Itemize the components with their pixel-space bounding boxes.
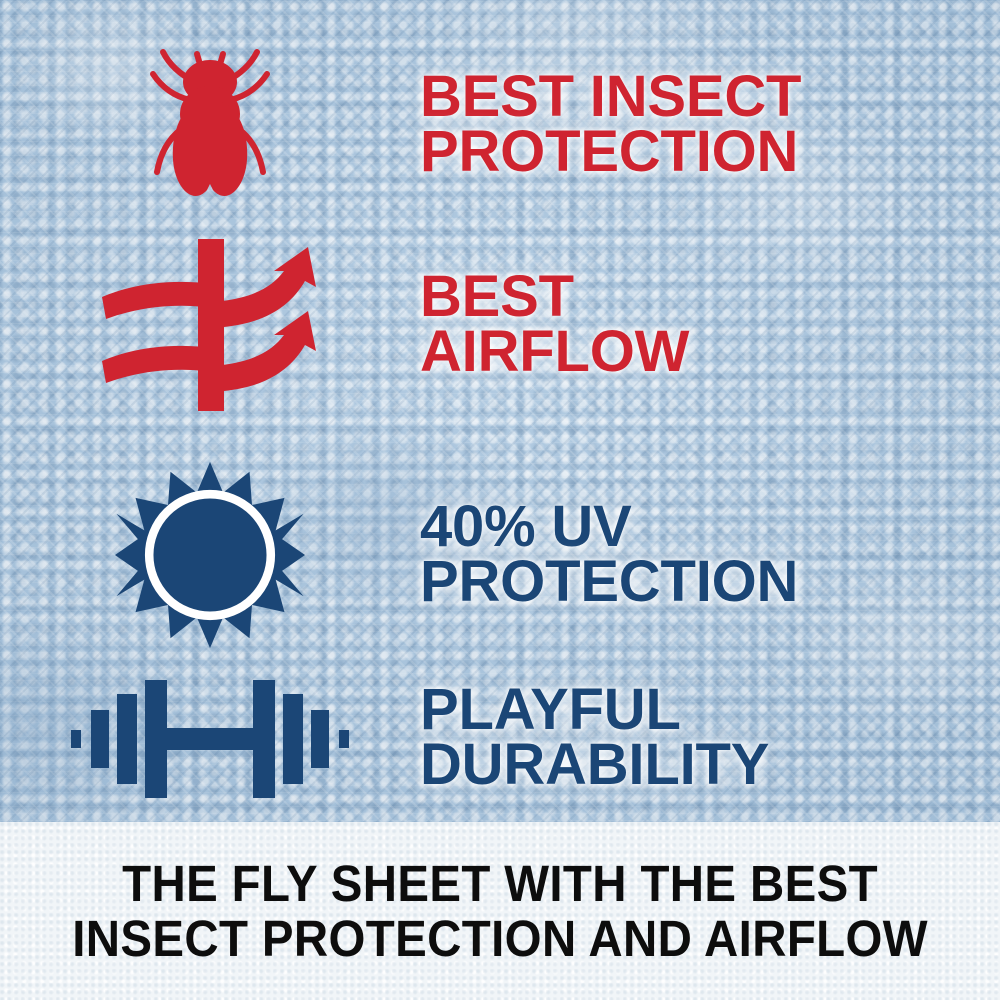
- feature-icon-slot: [0, 460, 420, 650]
- feature-row-uv-protection: 40% UV PROTECTION: [0, 455, 1000, 655]
- feature-icon-slot: [0, 235, 420, 415]
- feature-row-durability: PLAYFUL DURABILITY: [0, 655, 1000, 820]
- sun-icon: [115, 460, 305, 650]
- feature-icon-slot: [0, 38, 420, 213]
- caption-headline: THE FLY SHEET WITH THE BEST INSECT PROTE…: [72, 856, 928, 966]
- feature-label-airflow: BEST AIRFLOW: [420, 270, 1000, 379]
- feature-icon-slot: [0, 672, 420, 804]
- caption-band: THE FLY SHEET WITH THE BEST INSECT PROTE…: [0, 822, 1000, 1000]
- product-feature-poster: BEST INSECT PROTECTION BEST AIRFLOW: [0, 0, 1000, 1000]
- feature-row-insect-protection: BEST INSECT PROTECTION: [0, 40, 1000, 210]
- feature-label-durability: PLAYFUL DURABILITY: [420, 683, 1000, 792]
- feature-label-uv-protection: 40% UV PROTECTION: [420, 500, 1000, 609]
- dumbbell-icon: [69, 672, 351, 804]
- feature-row-airflow: BEST AIRFLOW: [0, 240, 1000, 410]
- fly-icon: [135, 38, 285, 213]
- airflow-arrows-icon: [96, 235, 324, 415]
- feature-label-insect-protection: BEST INSECT PROTECTION: [420, 70, 1000, 179]
